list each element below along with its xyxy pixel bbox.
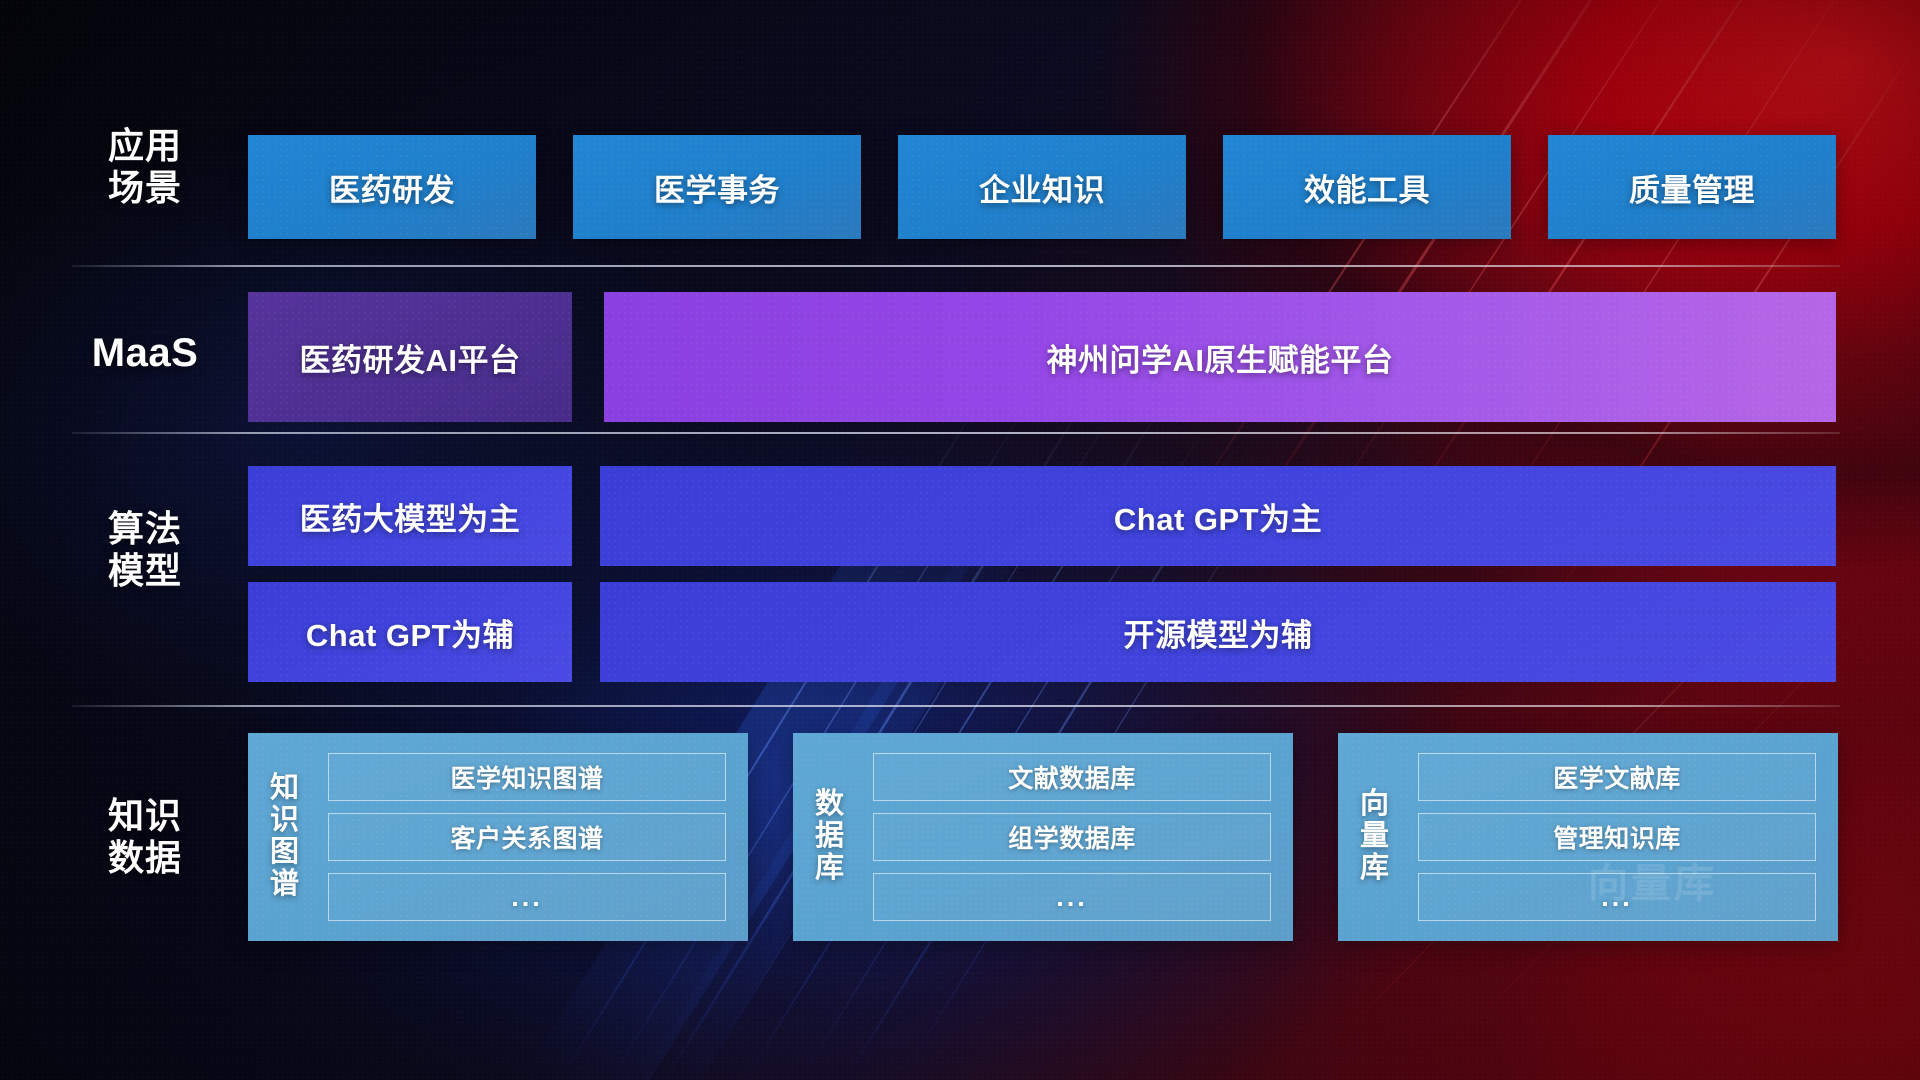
app-tile-label: 质量管理 [1629, 165, 1755, 210]
knowledge-item[interactable]: 组学数据库 [873, 813, 1271, 861]
side-label-char: 知 [270, 773, 300, 805]
app-tile-quality-management[interactable]: 质量管理 [1548, 135, 1836, 239]
slide-canvas: 应用 场景 医药研发 医学事务 企业知识 效能工具 质量管理 MaaS [0, 0, 1920, 1080]
row-label-line: MaaS [55, 330, 235, 377]
algo-tile-label: Chat GPT为主 [1114, 494, 1322, 539]
knowledge-item[interactable]: 医学知识图谱 [328, 753, 726, 801]
divider-1 [72, 265, 1840, 267]
algo-tile-opensource-secondary[interactable]: 开源模型为辅 [600, 582, 1836, 682]
app-tile-label: 医药研发 [329, 165, 455, 210]
row-label-knowledge-data: 知识 数据 [55, 795, 235, 880]
row-label-line: 应用 [55, 125, 235, 167]
side-label-char: 量 [1360, 821, 1390, 853]
app-tile-label: 医学事务 [654, 165, 780, 210]
app-tile-efficiency-tools[interactable]: 效能工具 [1223, 135, 1511, 239]
maas-tile-shenzhou-wenxue-platform[interactable]: 神州问学AI原生赋能平台 [604, 292, 1836, 422]
algo-tile-chatgpt-primary[interactable]: Chat GPT为主 [600, 466, 1836, 566]
knowledge-item-more[interactable]: ... [1418, 873, 1816, 921]
knowledge-item[interactable]: 文献数据库 [873, 753, 1271, 801]
knowledge-card-vector-database[interactable]: 向量库 向 量 库 医学文献库 管理知识库 ... [1338, 733, 1838, 941]
knowledge-item[interactable]: 管理知识库 [1418, 813, 1816, 861]
algo-tile-medicine-llm-primary[interactable]: 医药大模型为主 [248, 466, 572, 566]
algo-tile-label: Chat GPT为辅 [306, 610, 514, 655]
knowledge-card-item-list: 医学知识图谱 客户关系图谱 ... [322, 733, 748, 941]
knowledge-card-side-label: 数 据 库 [793, 733, 867, 941]
row-label-algorithm-models: 算法 模型 [55, 508, 235, 593]
diagram-content: 应用 场景 医药研发 医学事务 企业知识 效能工具 质量管理 MaaS [0, 0, 1920, 1080]
row-label-line: 模型 [55, 550, 235, 592]
row-label-maas: MaaS [55, 330, 235, 377]
knowledge-card-knowledge-graph[interactable]: 知 识 图 谱 医学知识图谱 客户关系图谱 ... [248, 733, 748, 941]
row-label-line: 算法 [55, 508, 235, 550]
app-tile-medicine-rnd[interactable]: 医药研发 [248, 135, 536, 239]
app-tile-label: 效能工具 [1304, 165, 1430, 210]
row-label-line: 数据 [55, 837, 235, 879]
knowledge-item-more[interactable]: ... [873, 873, 1271, 921]
knowledge-card-side-label: 知 识 图 谱 [248, 733, 322, 941]
side-label-char: 数 [815, 789, 845, 821]
divider-3 [72, 705, 1840, 707]
side-label-char: 向 [1360, 789, 1390, 821]
side-label-char: 图 [270, 837, 300, 869]
side-label-char: 谱 [270, 869, 300, 901]
algo-tile-label: 开源模型为辅 [1124, 610, 1313, 655]
row-label-application-scenarios: 应用 场景 [55, 125, 235, 210]
knowledge-item[interactable]: 医学文献库 [1418, 753, 1816, 801]
row-label-line: 知识 [55, 795, 235, 837]
knowledge-item-more[interactable]: ... [328, 873, 726, 921]
knowledge-card-side-label: 向 量 库 [1338, 733, 1412, 941]
knowledge-card-database[interactable]: 数 据 库 文献数据库 组学数据库 ... [793, 733, 1293, 941]
side-label-char: 识 [270, 805, 300, 837]
algo-tile-chatgpt-secondary[interactable]: Chat GPT为辅 [248, 582, 572, 682]
row-label-line: 场景 [55, 167, 235, 209]
side-label-char: 库 [1360, 853, 1390, 885]
maas-tile-medicine-ai-platform[interactable]: 医药研发AI平台 [248, 292, 572, 422]
maas-tile-label: 神州问学AI原生赋能平台 [1047, 335, 1394, 380]
side-label-char: 库 [815, 853, 845, 885]
app-tile-enterprise-knowledge[interactable]: 企业知识 [898, 135, 1186, 239]
knowledge-card-item-list: 文献数据库 组学数据库 ... [867, 733, 1293, 941]
divider-2 [72, 432, 1840, 434]
maas-tile-label: 医药研发AI平台 [300, 335, 521, 380]
knowledge-item[interactable]: 客户关系图谱 [328, 813, 726, 861]
side-label-char: 据 [815, 821, 845, 853]
app-tile-label: 企业知识 [979, 165, 1105, 210]
algo-tile-label: 医药大模型为主 [300, 494, 521, 539]
knowledge-card-item-list: 医学文献库 管理知识库 ... [1412, 733, 1838, 941]
app-tile-medical-affairs[interactable]: 医学事务 [573, 135, 861, 239]
